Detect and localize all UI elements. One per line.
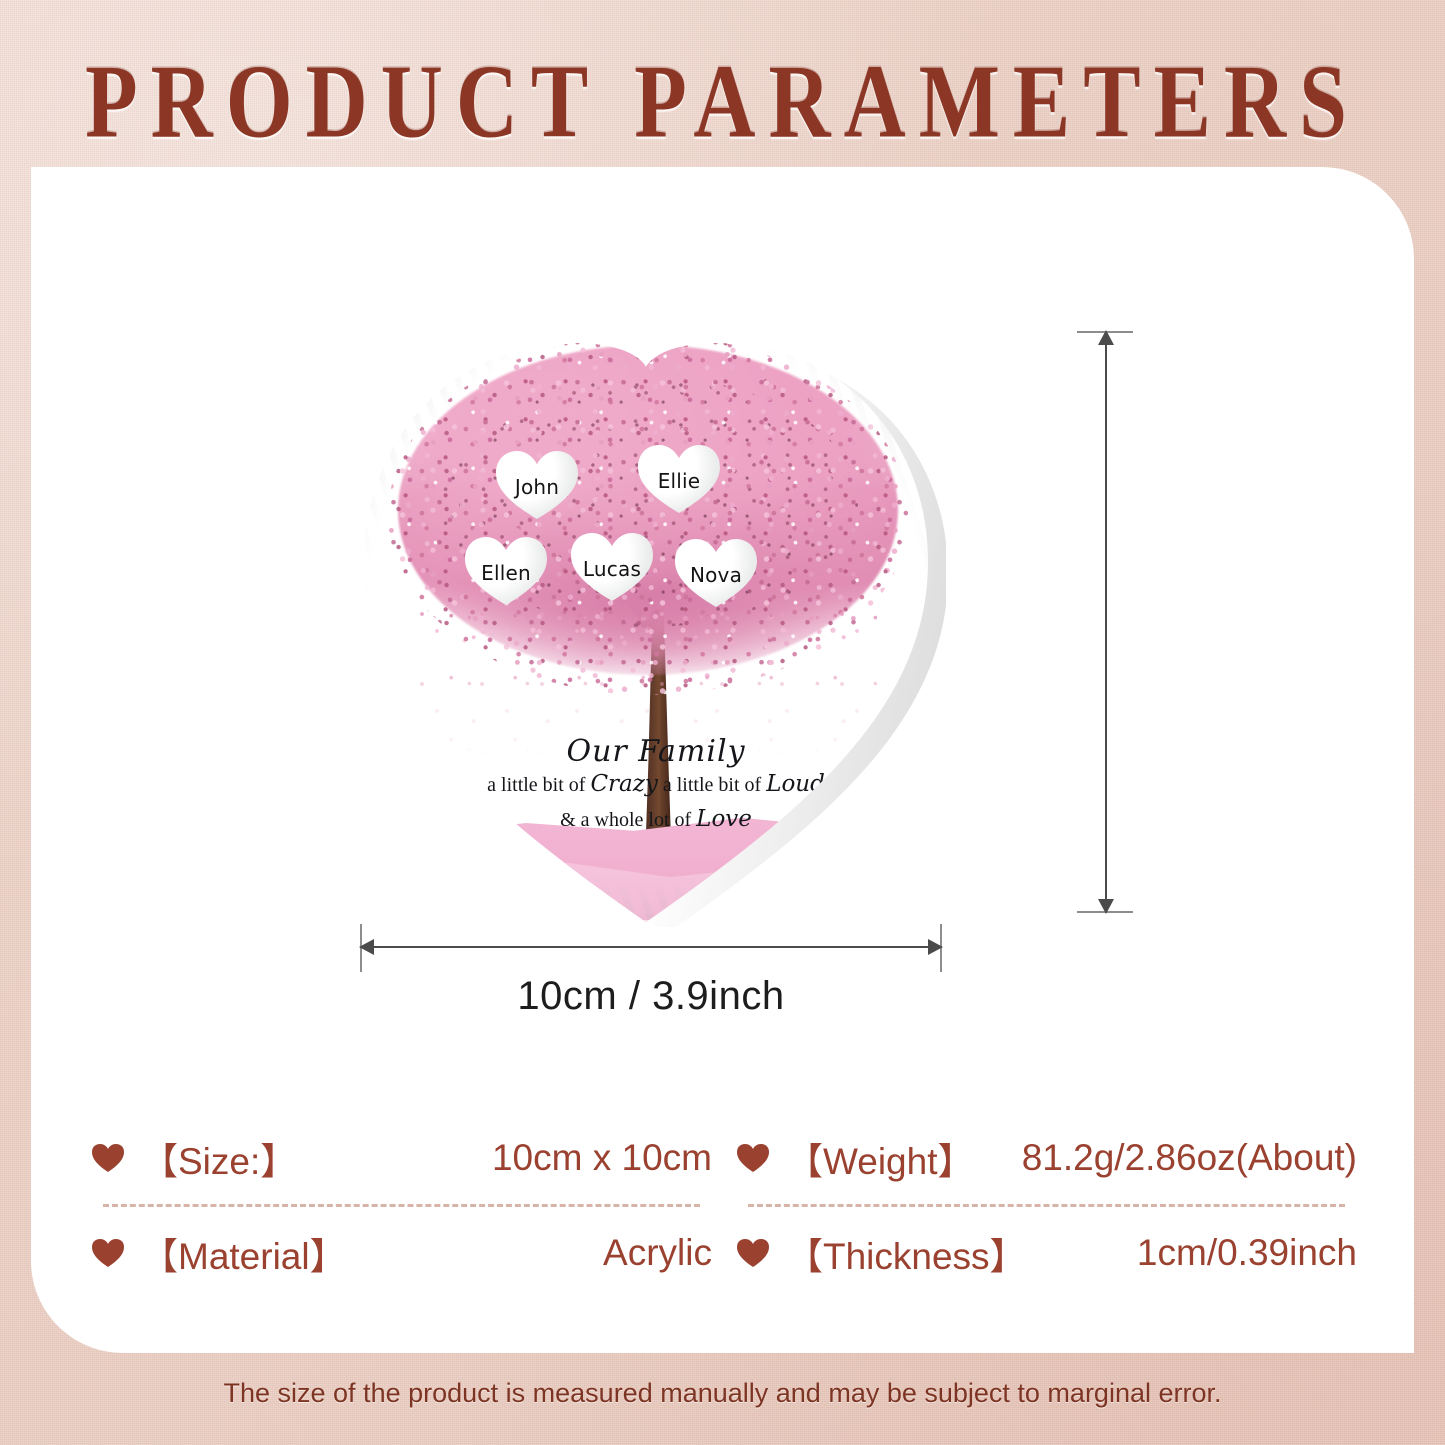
content-card: John Ellie Ellen Lucas Nova <box>31 167 1414 1353</box>
spec-key: 【Weight】 <box>786 1131 975 1185</box>
horizontal-dimension-guide: 10cm / 3.9inch <box>351 932 951 1032</box>
name-label: John <box>515 475 559 499</box>
spec-cell-weight: 【Weight】 81.2g/2.86oz(About) <box>724 1112 1369 1207</box>
quote-emphasis-crazy: Crazy <box>590 771 657 797</box>
spec-value: 81.2g/2.86oz(About) <box>975 1137 1358 1179</box>
quote-text: & a whole lot of <box>560 809 696 831</box>
page-title: PRODUCT PARAMETERS <box>0 40 1445 162</box>
name-heart-tag: Ellie <box>636 447 722 519</box>
heart-bullet-icon <box>736 1143 770 1173</box>
name-heart-tag: Nova <box>673 541 759 613</box>
spec-value: 10cm x 10cm <box>297 1137 712 1179</box>
spec-value: 1cm/0.39inch <box>1027 1232 1357 1274</box>
acrylic-front-face: John Ellie Ellen Lucas Nova <box>346 307 946 927</box>
horizontal-dimension-label: 10cm / 3.9inch <box>351 974 951 1019</box>
spec-cell-thickness: 【Thickness】 1cm/0.39inch <box>724 1207 1369 1299</box>
quote-title: Our Family <box>466 737 846 767</box>
spec-cell-material: 【Material】 Acrylic <box>79 1207 724 1299</box>
quote-text: a little bit of <box>658 774 766 796</box>
spec-cell-size: 【Size:】 10cm x 10cm <box>79 1112 724 1207</box>
spec-key: 【Material】 <box>141 1226 347 1280</box>
spec-key: 【Thickness】 <box>786 1226 1027 1280</box>
acrylic-heart-plaque: John Ellie Ellen Lucas Nova <box>346 307 946 927</box>
name-label: Ellie <box>658 469 701 493</box>
specs-row-1: 【Size:】 10cm x 10cm 【Weight】 81.2g/2.86o… <box>79 1112 1369 1207</box>
name-label: Lucas <box>583 557 641 581</box>
disclaimer-text: The size of the product is measured manu… <box>0 1378 1445 1409</box>
heart-bullet-icon <box>736 1238 770 1268</box>
product-illustration: John Ellie Ellen Lucas Nova <box>31 167 1414 1027</box>
heart-bullet-icon <box>91 1238 125 1268</box>
quote-emphasis-love: Love <box>696 806 752 832</box>
dimension-arrow-down <box>1098 899 1114 914</box>
vertical-dimension-guide: 10cm / 3.9inch <box>1091 322 1201 922</box>
spec-key: 【Size:】 <box>141 1131 297 1185</box>
specs-table: 【Size:】 10cm x 10cm 【Weight】 81.2g/2.86o… <box>79 1112 1369 1299</box>
dimension-axis <box>361 946 941 948</box>
specs-row-2: 【Material】 Acrylic 【Thickness】 1cm/0.39i… <box>79 1207 1369 1299</box>
dimension-axis <box>1105 332 1107 912</box>
spec-value: Acrylic <box>347 1232 712 1274</box>
dimension-arrow-up <box>1098 330 1114 345</box>
dimension-arrow-right <box>928 939 943 955</box>
name-label: Ellen <box>481 561 531 585</box>
name-heart-tag: John <box>494 453 580 525</box>
name-label: Nova <box>690 563 742 587</box>
dimension-arrow-left <box>359 939 374 955</box>
name-heart-tag: Lucas <box>569 535 655 607</box>
quote-line-1: a little bit of Crazy a little bit of Lo… <box>466 767 846 802</box>
heart-bullet-icon <box>91 1143 125 1173</box>
quote-text: a little bit of <box>487 774 590 796</box>
vertical-dimension-label: 10cm / 3.9inch <box>1201 322 1445 922</box>
name-heart-tag: Ellen <box>463 539 549 611</box>
